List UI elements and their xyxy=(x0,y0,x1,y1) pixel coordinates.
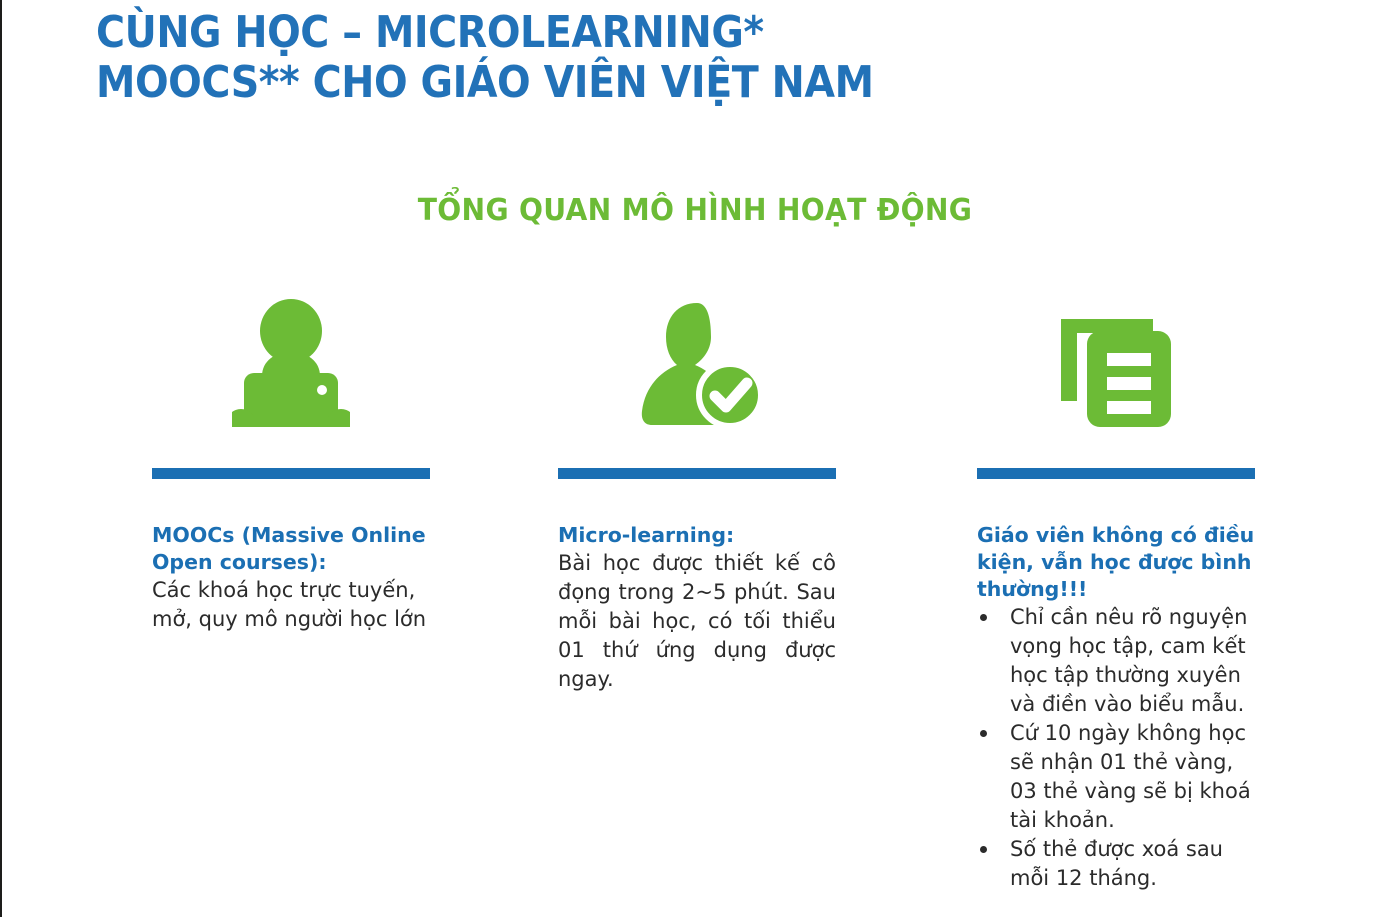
columns-container: MOOCs (Massive Online Open courses): Các… xyxy=(0,0,1390,917)
column-body: Giáo viên không có điều kiện, vẫn học đư… xyxy=(977,522,1255,893)
column-text: Các khoá học trực tuyến, mở, quy mô ngườ… xyxy=(152,576,430,634)
column-heading: MOOCs (Massive Online Open courses): xyxy=(152,522,430,576)
person-with-laptop-icon xyxy=(152,296,430,431)
column-heading: Micro-learning: xyxy=(558,522,836,549)
column-body: MOOCs (Massive Online Open courses): Các… xyxy=(152,522,430,634)
list-item-text: Số thẻ được xoá sau mỗi 12 tháng. xyxy=(1010,837,1223,890)
list-item: Chỉ cần nêu rõ nguyện vọng học tập, cam … xyxy=(977,603,1255,719)
bullet-dot-icon xyxy=(980,846,987,853)
bullet-list: Chỉ cần nêu rõ nguyện vọng học tập, cam … xyxy=(977,603,1255,893)
list-item-text: Cứ 10 ngày không học sẽ nhận 01 thẻ vàng… xyxy=(1010,721,1251,832)
bullet-dot-icon xyxy=(980,730,987,737)
bullet-dot-icon xyxy=(980,614,987,621)
column-rule-bar xyxy=(977,468,1255,479)
list-item: Số thẻ được xoá sau mỗi 12 tháng. xyxy=(977,835,1255,893)
column-rule-bar xyxy=(152,468,430,479)
column-text: Bài học được thiết kế cô đọng trong 2~5 … xyxy=(558,549,836,694)
column-body: Micro-learning: Bài học được thiết kế cô… xyxy=(558,522,836,694)
user-check-icon xyxy=(558,296,836,431)
documents-copy-icon xyxy=(977,296,1255,431)
list-item: Cứ 10 ngày không học sẽ nhận 01 thẻ vàng… xyxy=(977,719,1255,835)
column-rule-bar xyxy=(558,468,836,479)
list-item-text: Chỉ cần nêu rõ nguyện vọng học tập, cam … xyxy=(1010,605,1247,716)
column-heading: Giáo viên không có điều kiện, vẫn học đư… xyxy=(977,522,1255,603)
